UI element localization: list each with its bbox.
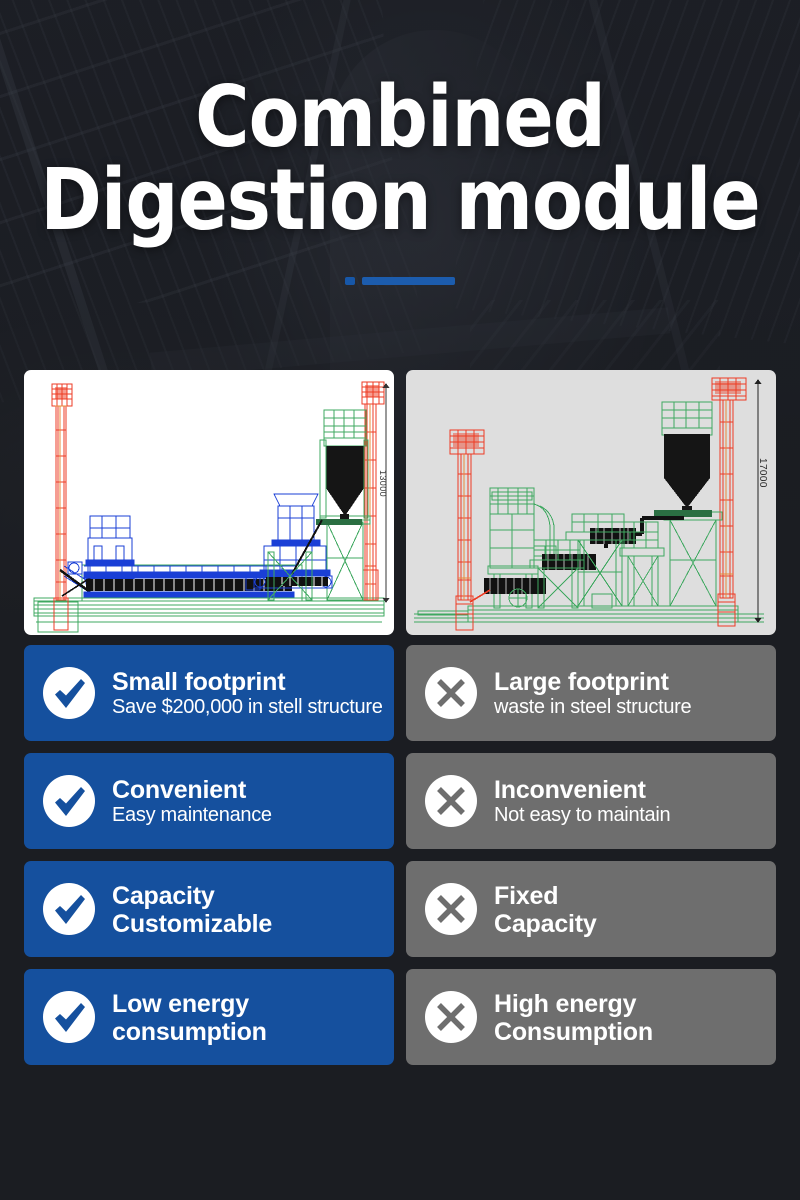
feature-card-small-footprint[interactable]: Small footprint Save $200,000 in stell s… <box>24 645 394 741</box>
title-divider <box>345 277 455 285</box>
feature-text: Small footprint Save $200,000 in stell s… <box>112 667 383 718</box>
feature-text: Low energy consumption <box>112 989 267 1046</box>
x-circle-icon <box>424 774 478 828</box>
feature-subtitle: Consumption <box>494 1018 653 1046</box>
feature-subtitle: Capacity <box>494 910 597 938</box>
feature-card-convenient[interactable]: Convenient Easy maintenance <box>24 753 394 849</box>
feature-text: Capacity Customizable <box>112 881 272 938</box>
feature-subtitle: Easy maintenance <box>112 804 272 826</box>
feature-text: Convenient Easy maintenance <box>112 775 272 826</box>
feature-title: Capacity <box>112 882 272 910</box>
feature-title: Low energy <box>112 990 267 1018</box>
feature-text: Large footprint waste in steel structure <box>494 667 691 718</box>
feature-text: Inconvenient Not easy to maintain <box>494 775 670 826</box>
feature-subtitle: waste in steel structure <box>494 696 691 718</box>
page-header: Combined Digestion module <box>0 0 800 285</box>
feature-card-fixed-capacity[interactable]: Fixed Capacity <box>406 861 776 957</box>
feature-card-low-energy[interactable]: Low energy consumption <box>24 969 394 1065</box>
drawing-combined-module: 13000 <box>24 370 394 635</box>
feature-card-capacity-customizable[interactable]: Capacity Customizable <box>24 861 394 957</box>
feature-card-high-energy[interactable]: High energy Consumption <box>406 969 776 1065</box>
feature-title: Large footprint <box>494 668 691 696</box>
page-title: Combined Digestion module <box>12 76 788 243</box>
check-circle-icon <box>42 882 96 936</box>
feature-card-large-footprint[interactable]: Large footprint waste in steel structure <box>406 645 776 741</box>
feature-subtitle: Not easy to maintain <box>494 804 670 826</box>
check-circle-icon <box>42 666 96 720</box>
page-title-line-1: Combined <box>12 76 788 159</box>
feature-comparison-grid: Small footprint Save $200,000 in stell s… <box>24 645 776 1065</box>
feature-card-inconvenient[interactable]: Inconvenient Not easy to maintain <box>406 753 776 849</box>
divider-dot <box>345 277 355 285</box>
feature-title: Small footprint <box>112 668 383 696</box>
feature-title: Convenient <box>112 776 272 804</box>
feature-subtitle: Customizable <box>112 910 272 938</box>
feature-subtitle: Save $200,000 in stell structure <box>112 696 383 718</box>
page-title-line-2: Digestion module <box>12 159 788 242</box>
dimension-label-right: 17000 <box>757 458 768 488</box>
feature-title: Inconvenient <box>494 776 670 804</box>
x-circle-icon <box>424 666 478 720</box>
feature-text: Fixed Capacity <box>494 881 597 938</box>
feature-text: High energy Consumption <box>494 989 653 1046</box>
check-circle-icon <box>42 990 96 1044</box>
drawing-comparison-row: 13000 <box>24 370 776 635</box>
dimension-label-left: 13000 <box>378 470 388 497</box>
conventional-plant-cad-svg <box>406 370 776 635</box>
x-circle-icon <box>424 990 478 1044</box>
feature-subtitle: consumption <box>112 1018 267 1046</box>
drawing-conventional-plant: 17000 <box>406 370 776 635</box>
check-circle-icon <box>42 774 96 828</box>
feature-title: High energy <box>494 990 653 1018</box>
feature-title: Fixed <box>494 882 597 910</box>
combined-module-cad-svg <box>24 370 394 635</box>
divider-bar <box>362 277 455 285</box>
x-circle-icon <box>424 882 478 936</box>
